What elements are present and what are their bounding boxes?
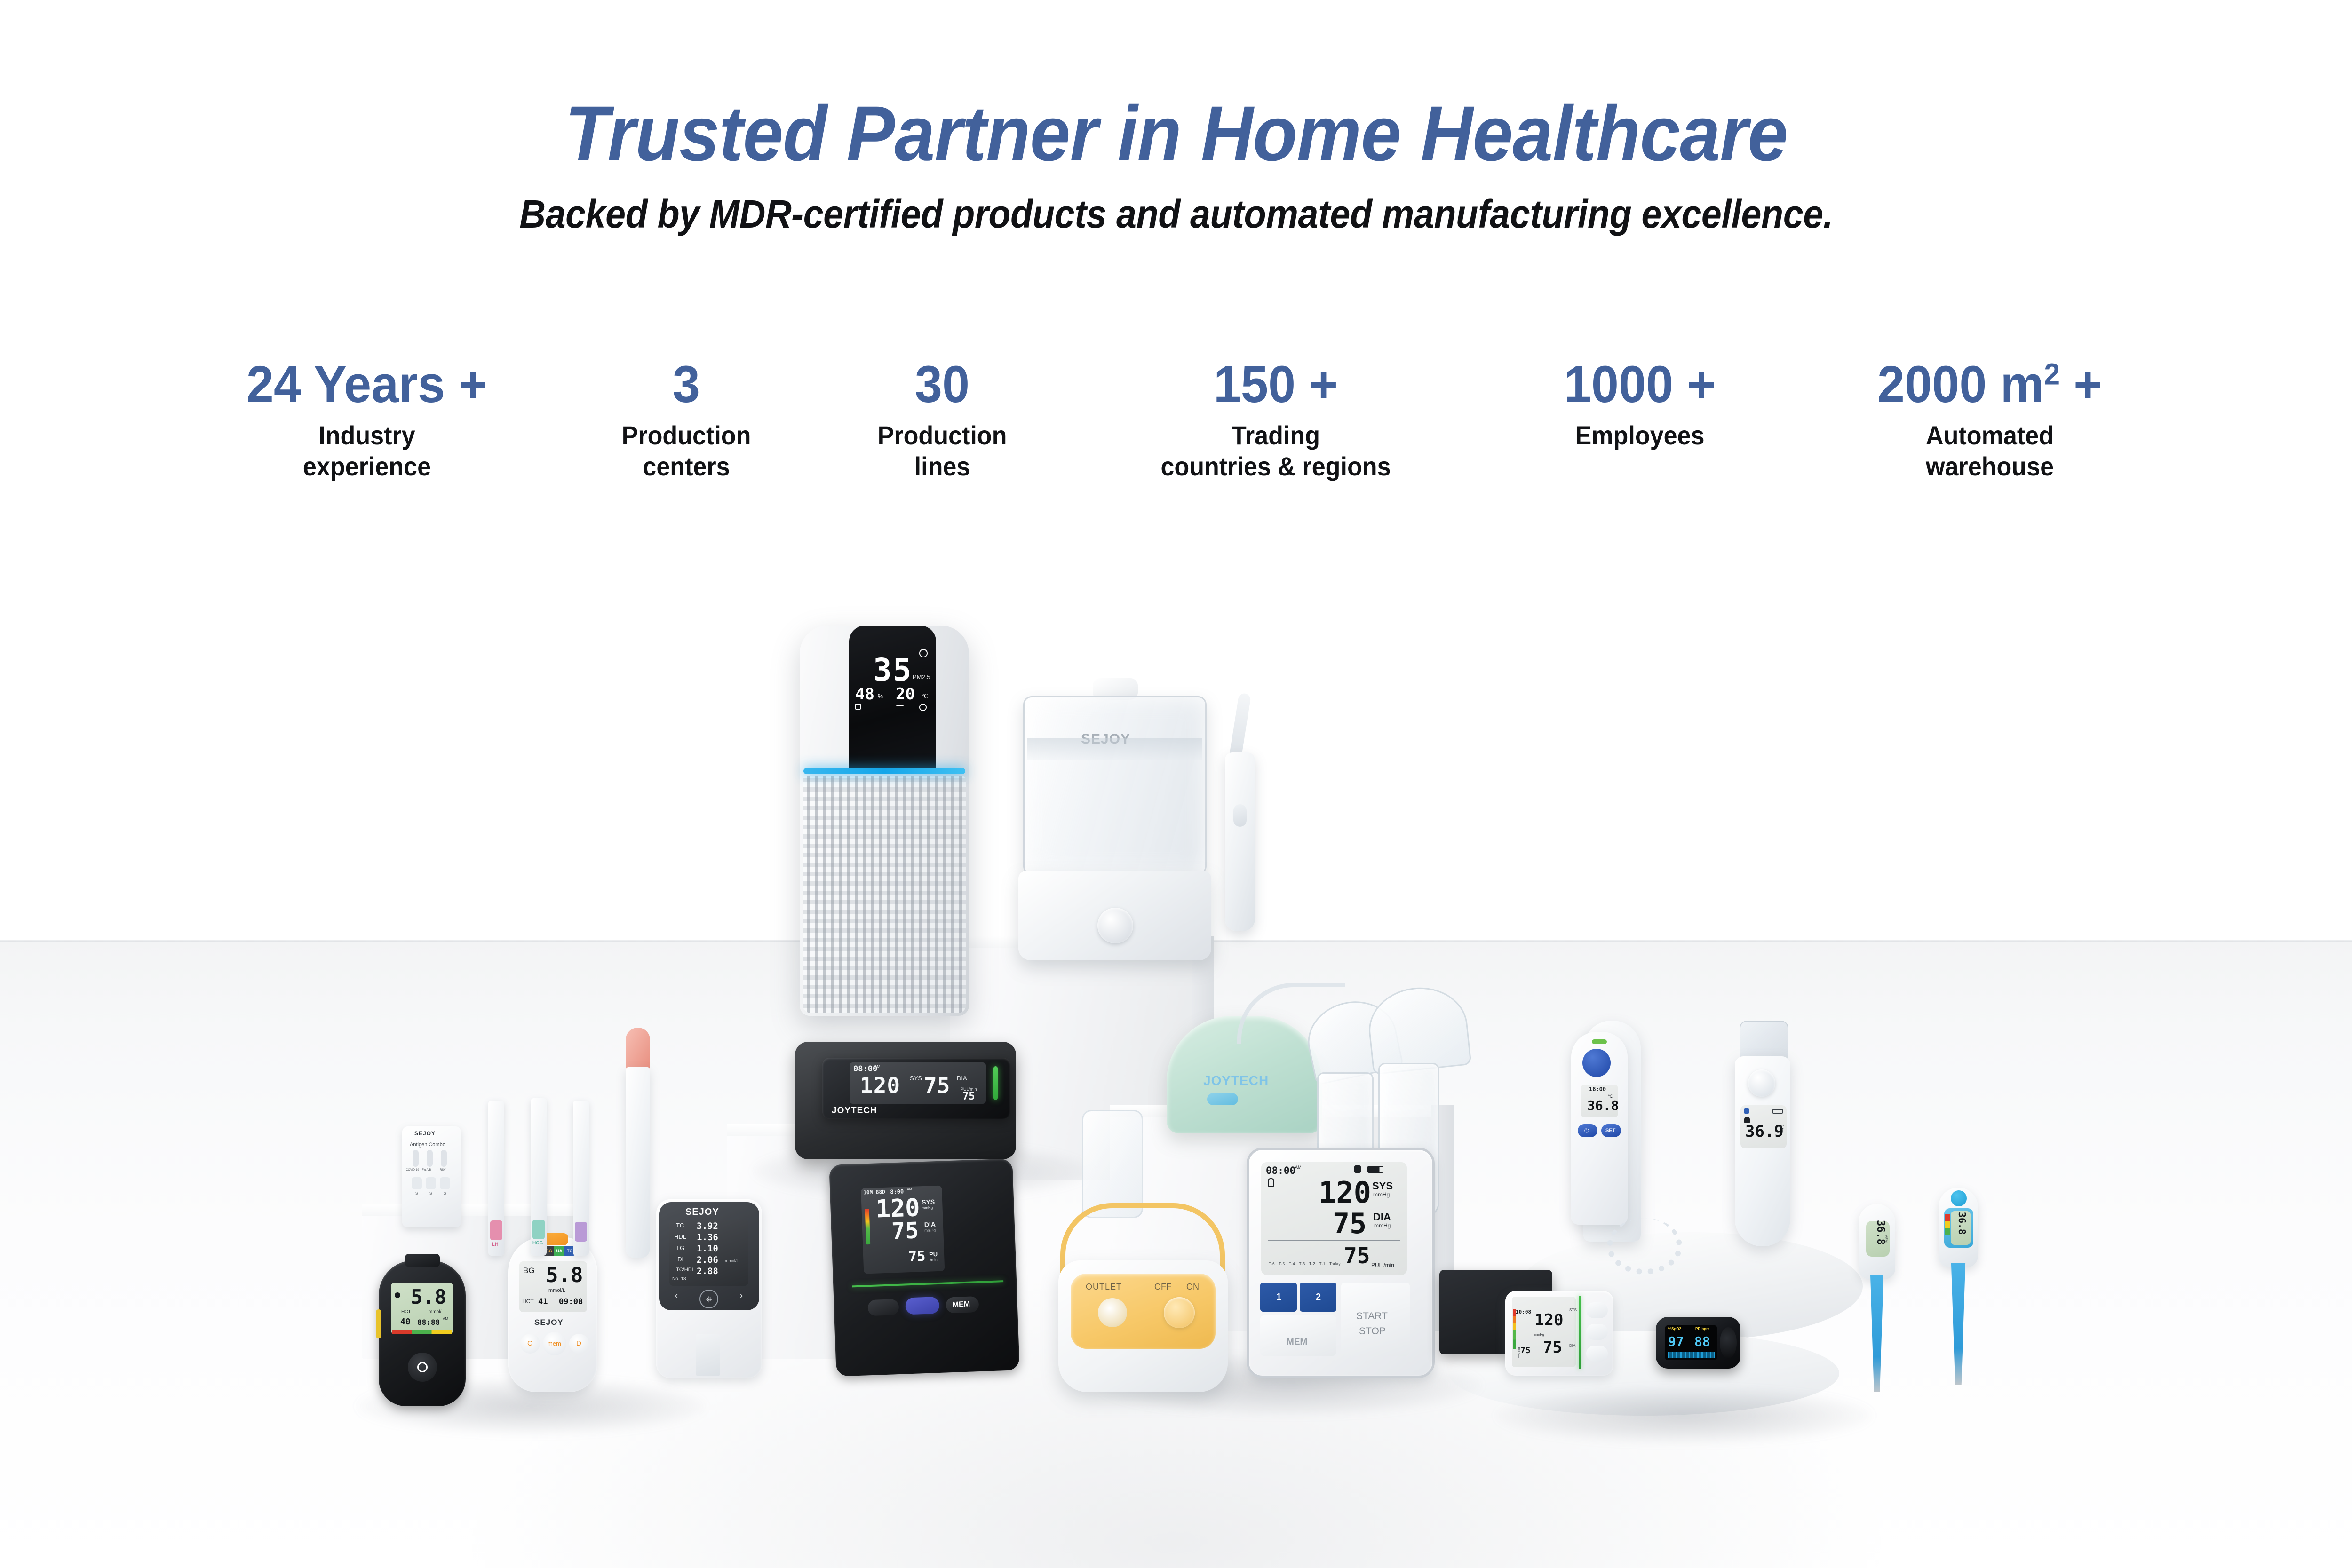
bp-white-pulse-label: PUL /min bbox=[1371, 1262, 1394, 1268]
page-subtitle: Backed by MDR-certified products and aut… bbox=[94, 191, 2258, 237]
bp-black-dia-value: 75 bbox=[891, 1217, 919, 1244]
oximeter-plethysmograph-waveform bbox=[1668, 1352, 1715, 1358]
irrigator-tip bbox=[1230, 693, 1251, 755]
lancing-body bbox=[626, 1067, 650, 1258]
bp-black-lcd: 10M 88D 8:00 AM 120 SYS mmHg 75 DIA mmHg… bbox=[861, 1186, 945, 1274]
humidifier-tank: SEJOY bbox=[1023, 696, 1207, 875]
oximeter-pr-label: PR bpm bbox=[1695, 1327, 1709, 1331]
nebulizer-control-panel: OUTLET OFF ON bbox=[1071, 1274, 1216, 1349]
bp-black-meridiem: AM bbox=[907, 1188, 912, 1191]
purifier-temp-value: 20 bbox=[896, 685, 915, 704]
bp-black-power-button[interactable] bbox=[905, 1297, 939, 1315]
nebulizer-power-switch[interactable] bbox=[1164, 1297, 1195, 1328]
digital-therm-2-probe bbox=[1939, 1263, 1978, 1385]
bp-white-user1-button[interactable]: 1 bbox=[1260, 1283, 1297, 1312]
wrist-bp-white-shell: 10:08 120 mmHg 75 75 SYS DIA PUL/min bbox=[1505, 1291, 1613, 1376]
glucose-white-shell: KT BG UA TC BG 5.8 mmol/L HCT 41 09:08 S… bbox=[508, 1237, 597, 1392]
nebulizer-outlet-label: OUTLET bbox=[1086, 1282, 1122, 1292]
product-wrist-bp-cuff[interactable]: 08:00 AM 120 SYS 75 DIA PUL/min 75 JOYTE… bbox=[795, 1042, 1016, 1159]
glucose-black-lcd: 5.8 mmol/L HCT 40 88:88 AM bbox=[391, 1283, 453, 1334]
product-pulse-oximeter[interactable]: %SpO2 PR bpm 97 88 bbox=[1656, 1317, 1740, 1369]
glucose-black-status-strip bbox=[392, 1330, 452, 1334]
ear-therm-lcd: 16:00 ℃ 36.8 bbox=[1581, 1085, 1618, 1117]
product-wrist-bp-white[interactable]: 10:08 120 mmHg 75 75 SYS DIA PUL/min bbox=[1505, 1291, 1613, 1376]
irrigator-handle bbox=[1225, 752, 1255, 931]
bp-black-user-button[interactable] bbox=[867, 1299, 899, 1316]
bp-black-pulse-unit: /min bbox=[930, 1258, 937, 1262]
glucose-black-hct-label: HCT bbox=[401, 1309, 411, 1315]
wrist-bp-white-user-button[interactable] bbox=[1586, 1346, 1608, 1362]
bp-white-shell: 08:00 AM 120 SYS mmHg 75 DIA mmHg 75 PUL… bbox=[1247, 1148, 1435, 1378]
bp-white-user1-label: 1 bbox=[1276, 1292, 1281, 1303]
product-nebulizer[interactable]: OUTLET OFF ON bbox=[1044, 1166, 1242, 1392]
ear-therm-handset: 16:00 ℃ 36.8 ⏻ SET bbox=[1571, 1032, 1628, 1225]
oximeter-finger-slot bbox=[1720, 1327, 1737, 1358]
glucose-white-unit: mmol/L bbox=[548, 1288, 565, 1293]
product-strip-plain[interactable] bbox=[573, 1101, 589, 1256]
chol-lcd: TC 3.92 HDL 1.36 TG 1.10 LDL 2.06 mmol/L… bbox=[669, 1220, 748, 1286]
wrist-bp-white-record-button[interactable] bbox=[1586, 1302, 1608, 1318]
chol-row-label: TG bbox=[676, 1244, 684, 1251]
stat-value: 1000 + bbox=[1515, 357, 1765, 412]
product-glucose-meter-black[interactable]: 5.8 mmol/L HCT 40 88:88 AM bbox=[379, 1260, 466, 1406]
page-title: Trusted Partner in Home Healthcare bbox=[82, 94, 2270, 174]
antigen-sample-label: S bbox=[415, 1191, 418, 1196]
antigen-sample-label: S bbox=[444, 1191, 446, 1196]
glucose-white-mode-label: BG bbox=[523, 1266, 535, 1275]
ear-therm-power-label: ⏻ bbox=[1584, 1127, 1589, 1134]
glucose-black-side-button-left[interactable] bbox=[376, 1309, 381, 1338]
bp-white-unit-dia: mmHg bbox=[1374, 1222, 1391, 1229]
bp-white-history-labels: T-6 · T-5 · T-4 · T-3 · T-2 · T-1 · Toda… bbox=[1269, 1262, 1341, 1266]
stat-label: Employees bbox=[1518, 420, 1763, 451]
cuff-dia-label: DIA bbox=[957, 1075, 967, 1082]
wrist-bp-white-classification-bar bbox=[1513, 1309, 1516, 1349]
glucose-white-button-mem-label: mem bbox=[548, 1340, 561, 1347]
antigen-result-window-covid bbox=[413, 1150, 419, 1167]
stat-value: 2000 m2 + bbox=[1834, 357, 2146, 412]
wrist-bp-white-green-line bbox=[1579, 1296, 1581, 1369]
product-lancing-device[interactable] bbox=[626, 1028, 650, 1258]
product-humidifier[interactable]: SEJOY bbox=[1023, 696, 1207, 959]
antigen-sample-well-1 bbox=[412, 1177, 422, 1189]
purifier-temp-unit: ℃ bbox=[921, 692, 929, 700]
bp-white-meridiem: AM bbox=[1295, 1165, 1302, 1170]
glucose-black-strip-port bbox=[405, 1254, 440, 1267]
digital-therm-2-lcd: 36.8 bbox=[1951, 1211, 1971, 1245]
stat-value-superscript: 2 bbox=[2044, 357, 2060, 391]
stat-value: 150 + bbox=[1106, 357, 1446, 412]
pump-funnel-right bbox=[1365, 983, 1471, 1075]
pump-power-button[interactable] bbox=[1207, 1093, 1238, 1105]
stat-employees: 1000 + Employees bbox=[1508, 357, 1772, 451]
forehead-therm-body: 36.9 ℃ bbox=[1735, 1056, 1790, 1246]
antigen-result-window-flu bbox=[427, 1150, 433, 1167]
forehead-therm-measure-button[interactable] bbox=[1748, 1069, 1775, 1097]
product-forehead-thermometer[interactable]: 36.9 ℃ bbox=[1731, 1021, 1792, 1246]
bp-white-divider bbox=[1268, 1240, 1400, 1241]
cuff-monitor-head: 08:00 AM 120 SYS 75 DIA PUL/min 75 JOYTE… bbox=[822, 1058, 1010, 1119]
bp-black-dia-label: DIA bbox=[924, 1220, 936, 1228]
bp-white-battery-icon bbox=[1367, 1166, 1383, 1173]
chol-row-value: 2.06 bbox=[697, 1255, 718, 1265]
glucose-white-button-d[interactable]: D bbox=[569, 1334, 589, 1354]
pump-brand: JOYTECH bbox=[1203, 1073, 1269, 1088]
strip-lh-color-tag bbox=[490, 1220, 502, 1240]
bp-black-unit-dia: mmHg bbox=[924, 1228, 936, 1233]
product-ear-thermometer[interactable]: 16:00 ℃ 36.8 ⏻ SET bbox=[1571, 1021, 1642, 1246]
bp-black-mem-label: MEM bbox=[953, 1300, 970, 1309]
bp-black-green-line bbox=[852, 1280, 1003, 1287]
bp-white-time: 08:00 bbox=[1266, 1165, 1295, 1176]
bp-white-user2-label: 2 bbox=[1316, 1292, 1321, 1303]
chol-unit: mmol/L bbox=[725, 1259, 739, 1263]
chol-row-value: 2.88 bbox=[697, 1266, 718, 1276]
bp-white-dia-value: 75 bbox=[1333, 1207, 1367, 1240]
ear-therm-value: 36.8 bbox=[1587, 1098, 1619, 1113]
product-oral-irrigator[interactable] bbox=[1223, 705, 1257, 931]
wrist-bp-white-pulse-label: PUL/min bbox=[1517, 1347, 1520, 1358]
bp-black-unit-sys: mmHg bbox=[922, 1205, 933, 1210]
lancing-cap bbox=[626, 1028, 650, 1070]
stat-value: 30 bbox=[846, 357, 1039, 412]
bp-black-sys-label: SYS bbox=[922, 1198, 935, 1206]
bp-white-sys-label: SYS bbox=[1372, 1180, 1393, 1192]
wrist-bp-white-unit: mmHg bbox=[1534, 1333, 1544, 1337]
digital-therm-2-lcd-frame: 36.8 bbox=[1944, 1208, 1973, 1248]
stat-automated-warehouse: 2000 m2 + Automated warehouse bbox=[1825, 357, 2154, 482]
oximeter-spo2-value: 97 bbox=[1668, 1334, 1684, 1349]
cuff-dia-value: 75 bbox=[924, 1073, 950, 1098]
nebulizer-off-label: OFF bbox=[1154, 1282, 1171, 1292]
chol-row-label: TC bbox=[676, 1222, 684, 1229]
antigen-sample-well-2 bbox=[426, 1177, 436, 1189]
glucose-white-time: 09:08 bbox=[559, 1297, 583, 1307]
digital-therm-2-head: 36.8 bbox=[1939, 1188, 1978, 1267]
product-glucose-meter-white[interactable]: KT BG UA TC BG 5.8 mmol/L HCT 41 09:08 S… bbox=[508, 1237, 597, 1392]
ear-therm-power-button[interactable]: ⏻ bbox=[1578, 1124, 1597, 1137]
nebulizer-on-label: ON bbox=[1186, 1282, 1199, 1292]
humidifier-base bbox=[1018, 871, 1211, 960]
oximeter-oled: %SpO2 PR bpm 97 88 bbox=[1665, 1325, 1717, 1360]
wrist-bp-white-power-button[interactable] bbox=[1586, 1324, 1608, 1340]
antigen-brand: SEJOY bbox=[414, 1130, 436, 1137]
humidifier-water-level bbox=[1027, 738, 1202, 760]
chol-row-label: HDL bbox=[674, 1233, 686, 1240]
forehead-therm-lcd: 36.9 ℃ bbox=[1740, 1105, 1787, 1148]
chol-strip-slot bbox=[696, 1334, 720, 1376]
purifier-auto-icon bbox=[919, 649, 928, 657]
chol-row-value: 1.10 bbox=[697, 1243, 718, 1254]
product-air-purifier[interactable]: 35 PM2.5 48 % 20 ℃ bbox=[800, 626, 969, 1016]
bp-white-unit-sys: mmHg bbox=[1373, 1191, 1390, 1198]
glucose-black-time: 88:88 bbox=[417, 1318, 440, 1327]
product-cholesterol-meter[interactable]: SEJOY TC 3.92 HDL 1.36 TG 1.10 LDL 2.06 … bbox=[656, 1199, 762, 1378]
pump-tubing bbox=[1237, 983, 1345, 1044]
product-antigen-test[interactable]: SEJOY Antigen Combo COVID-19 Flu A/B RSV… bbox=[402, 1126, 461, 1227]
chol-row-value: 3.92 bbox=[697, 1221, 718, 1231]
bp-black-mem-button[interactable]: MEM bbox=[946, 1296, 979, 1313]
bp-white-mem-button[interactable]: MEM bbox=[1260, 1315, 1336, 1356]
glucose-black-meal-icon bbox=[395, 1292, 400, 1298]
purifier-humidity-value: 48 bbox=[855, 685, 874, 704]
antigen-sample-well-3 bbox=[440, 1177, 450, 1189]
product-digital-thermometer-1[interactable]: 36.8 MEM bbox=[1856, 1204, 1898, 1392]
glucose-black-shell: 5.8 mmol/L HCT 40 88:88 AM bbox=[379, 1260, 466, 1406]
ear-therm-coil-cord bbox=[1607, 1218, 1682, 1275]
chol-faceplate: SEJOY TC 3.92 HDL 1.36 TG 1.10 LDL 2.06 … bbox=[659, 1202, 759, 1310]
oximeter-pr-value: 88 bbox=[1694, 1334, 1710, 1349]
oximeter-spo2-label: %SpO2 bbox=[1668, 1327, 1681, 1331]
nebulizer-outlet-port bbox=[1098, 1298, 1127, 1327]
stat-trading-countries: 150 + Trading countries & regions bbox=[1097, 357, 1454, 482]
chol-prev-button[interactable]: ‹ bbox=[669, 1291, 683, 1303]
glucose-white-button-mem[interactable]: mem bbox=[543, 1332, 566, 1355]
product-digital-thermometer-2[interactable]: 36.8 bbox=[1936, 1188, 1981, 1385]
antigen-result-window-rsv bbox=[441, 1150, 447, 1167]
ear-therm-set-label: SET bbox=[1605, 1128, 1615, 1133]
purifier-grille bbox=[803, 776, 966, 1013]
stat-label: Production centers bbox=[592, 420, 780, 482]
stat-production-centers: 3 Production centers bbox=[585, 357, 787, 482]
product-strip-hcg[interactable]: HCG bbox=[531, 1098, 547, 1256]
bp-white-user2-button[interactable]: 2 bbox=[1300, 1283, 1336, 1312]
antigen-channel-label-rsv: RSV bbox=[440, 1169, 445, 1172]
glucose-white-brand: SEJOY bbox=[534, 1318, 564, 1327]
bp-black-pulse-label: PU bbox=[929, 1251, 938, 1258]
product-black-bp-monitor[interactable]: 10M 88D 8:00 AM 120 SYS mmHg 75 DIA mmHg… bbox=[833, 1162, 1016, 1373]
purifier-display: 35 PM2.5 48 % 20 ℃ bbox=[852, 632, 933, 768]
antigen-sample-label: S bbox=[429, 1191, 432, 1196]
bp-black-classification-bar bbox=[865, 1209, 871, 1244]
ear-therm-set-button[interactable]: SET bbox=[1601, 1124, 1621, 1137]
purifier-wifi-icon bbox=[896, 705, 904, 709]
strip-plain-color-tag bbox=[575, 1222, 587, 1242]
cuff-meridiem: AM bbox=[874, 1064, 881, 1069]
header: Trusted Partner in Home Healthcare Backe… bbox=[0, 94, 2352, 237]
bp-white-bluetooth-icon bbox=[1354, 1165, 1361, 1173]
wrist-bp-white-sys-value: 120 bbox=[1534, 1311, 1563, 1330]
antigen-channel-label-flu: Flu A/B bbox=[422, 1169, 431, 1172]
bp-black-pulse-value: 75 bbox=[908, 1248, 926, 1265]
digital-therm-1-probe bbox=[1859, 1275, 1895, 1392]
stat-label: Automated warehouse bbox=[1837, 420, 2143, 482]
ear-therm-led bbox=[1592, 1039, 1607, 1044]
cuff-pulse-value: 75 bbox=[962, 1091, 975, 1102]
cuff-sys-value: 120 bbox=[860, 1073, 900, 1098]
bp-white-mem-label: MEM bbox=[1287, 1337, 1307, 1347]
strip-hcg-label: HCG bbox=[532, 1241, 543, 1246]
digital-therm-2-value: 36.8 bbox=[1956, 1212, 1968, 1235]
stat-industry-experience: 24 Years + Industry experience bbox=[202, 357, 532, 482]
forehead-therm-unit: ℃ bbox=[1778, 1124, 1784, 1130]
product-white-bp-monitor[interactable]: 08:00 AM 120 SYS mmHg 75 DIA mmHg 75 PUL… bbox=[1247, 1148, 1435, 1378]
chol-row-value: 1.36 bbox=[697, 1232, 718, 1243]
glucose-white-hct-value: 41 bbox=[538, 1297, 548, 1307]
stat-production-lines: 30 Production lines bbox=[841, 357, 1043, 482]
bp-black-shell: 10M 88D 8:00 AM 120 SYS mmHg 75 DIA mmHg… bbox=[829, 1158, 1019, 1376]
cuff-led-indicator bbox=[993, 1066, 998, 1100]
cuff-sys-label: SYS bbox=[910, 1075, 922, 1082]
glucose-white-button-c[interactable]: C bbox=[520, 1334, 540, 1354]
chol-brand: SEJOY bbox=[685, 1207, 719, 1218]
irrigator-button[interactable] bbox=[1233, 804, 1247, 827]
glucose-black-power-button[interactable] bbox=[408, 1353, 437, 1382]
antigen-channel-label-covid: COVID-19 bbox=[406, 1169, 419, 1172]
ear-therm-measure-button[interactable] bbox=[1582, 1049, 1611, 1077]
oximeter-shell: %SpO2 PR bpm 97 88 bbox=[1656, 1317, 1740, 1369]
glucose-black-unit: mmol/L bbox=[429, 1309, 444, 1315]
wrist-bp-white-time: 10:08 bbox=[1516, 1309, 1531, 1315]
glucose-black-hct-value: 40 bbox=[400, 1317, 411, 1327]
glucose-white-button-d-label: D bbox=[576, 1339, 581, 1347]
purifier-pm-label: PM2.5 bbox=[913, 673, 930, 681]
chol-shell: SEJOY TC 3.92 HDL 1.36 TG 1.10 LDL 2.06 … bbox=[656, 1199, 762, 1378]
forehead-therm-bluetooth-icon bbox=[1744, 1108, 1749, 1114]
stat-label: Trading countries & regions bbox=[1110, 420, 1442, 482]
wrist-bp-white-pulse-value: 75 bbox=[1520, 1346, 1531, 1355]
bp-white-start-label: START bbox=[1356, 1311, 1388, 1322]
chol-row-label: TC/HDL bbox=[676, 1267, 695, 1273]
wrist-bp-white-dia-value: 75 bbox=[1543, 1338, 1562, 1357]
chol-next-button[interactable]: › bbox=[734, 1291, 748, 1303]
cuff-lcd: 08:00 AM 120 SYS 75 DIA PUL/min 75 bbox=[850, 1062, 986, 1104]
glucose-black-power-icon bbox=[417, 1362, 428, 1372]
wrist-bp-white-lcd: 10:08 120 mmHg 75 75 SYS DIA PUL/min bbox=[1512, 1297, 1576, 1367]
stat-value-number: 2000 m bbox=[1877, 356, 2044, 413]
strip-hcg-color-tag bbox=[532, 1220, 545, 1239]
cuff-brand: JOYTECH bbox=[832, 1106, 877, 1116]
chol-record-number: No. 18 bbox=[672, 1276, 686, 1282]
purifier-humidity-unit: % bbox=[878, 692, 883, 700]
stat-label: Production lines bbox=[848, 420, 1036, 482]
product-strip-lh[interactable]: LH bbox=[488, 1101, 504, 1256]
stat-value: 24 Years + bbox=[211, 357, 524, 412]
stat-value: 3 bbox=[590, 357, 783, 412]
purifier-led-ring bbox=[803, 768, 965, 774]
wrist-bp-white-dia-label: DIA bbox=[1569, 1344, 1575, 1348]
antigen-cassette: SEJOY Antigen Combo COVID-19 Flu A/B RSV… bbox=[402, 1126, 461, 1227]
digital-therm-1-mem-label: MEM bbox=[1884, 1235, 1888, 1242]
nebulizer-mask-kit bbox=[1082, 1110, 1143, 1218]
purifier-pm-value: 35 bbox=[873, 652, 912, 688]
glucose-white-value: 5.8 bbox=[546, 1263, 583, 1287]
glucose-white-lcd: BG 5.8 mmol/L HCT 41 09:08 bbox=[519, 1261, 587, 1312]
digital-therm-2-fever-scale bbox=[1945, 1214, 1950, 1235]
glucose-black-meridiem: AM bbox=[443, 1317, 448, 1321]
glucose-tab-ua[interactable]: UA bbox=[554, 1246, 564, 1256]
bp-white-sys-value: 120 bbox=[1319, 1175, 1371, 1210]
ear-therm-time: 16:00 bbox=[1589, 1086, 1606, 1093]
bp-white-stop-label: STOP bbox=[1359, 1326, 1386, 1337]
stats-row: 24 Years + Industry experience 3 Product… bbox=[202, 357, 2154, 482]
purifier-timer-icon bbox=[919, 704, 927, 711]
glucose-white-hct-label: HCT bbox=[522, 1298, 534, 1305]
bp-white-pulse-value: 75 bbox=[1344, 1243, 1370, 1268]
glucose-black-value: 5.8 bbox=[411, 1285, 446, 1308]
bp-white-dia-label: DIA bbox=[1373, 1211, 1391, 1223]
antigen-kit-title: Antigen Combo bbox=[410, 1142, 445, 1148]
digital-therm-1-head: 36.8 MEM bbox=[1859, 1204, 1895, 1279]
bp-white-lcd: 08:00 AM 120 SYS mmHg 75 DIA mmHg 75 PUL… bbox=[1261, 1162, 1407, 1275]
glucose-white-button-c-label: C bbox=[527, 1339, 532, 1347]
bp-white-user-icon bbox=[1268, 1178, 1274, 1187]
wrist-bp-white-sys-label: SYS bbox=[1569, 1308, 1577, 1312]
chol-power-button[interactable]: ⎈ bbox=[699, 1290, 718, 1308]
digital-therm-1-lcd: 36.8 MEM bbox=[1866, 1221, 1890, 1257]
humidifier-knob[interactable] bbox=[1097, 908, 1133, 943]
pedestal-top bbox=[362, 1204, 583, 1216]
stat-label: Industry experience bbox=[214, 420, 520, 482]
forehead-therm-battery-icon bbox=[1772, 1109, 1783, 1114]
digital-therm-2-power-button[interactable] bbox=[1951, 1190, 1967, 1206]
purifier-lock-icon bbox=[855, 704, 861, 710]
strip-lh-label: LH bbox=[492, 1242, 499, 1247]
nebulizer-body: OUTLET OFF ON bbox=[1058, 1260, 1228, 1392]
bp-white-start-stop-button[interactable]: START STOP bbox=[1341, 1283, 1410, 1356]
chol-row-label: LDL bbox=[674, 1256, 685, 1263]
stat-value-suffix: + bbox=[2060, 356, 2102, 413]
shadow bbox=[1496, 1387, 1872, 1444]
